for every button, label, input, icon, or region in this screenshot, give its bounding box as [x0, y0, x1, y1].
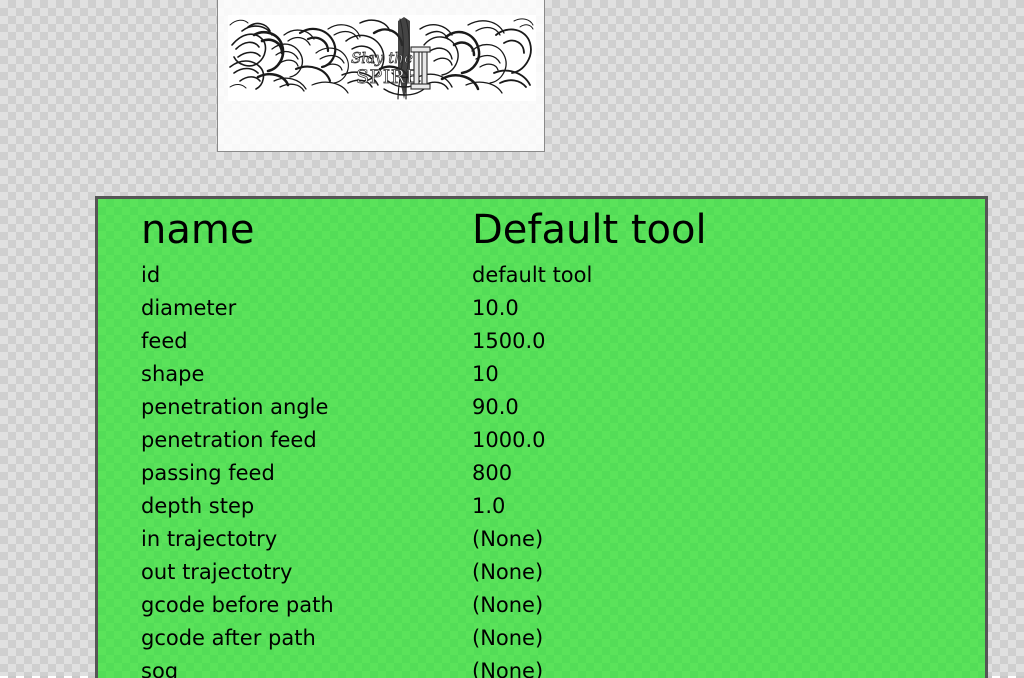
table-row[interactable]: sog (None) — [141, 655, 985, 678]
property-value: (None) — [472, 655, 985, 678]
banner-image-card[interactable]: Slay the SPIRE — [217, 0, 545, 152]
slay-the-spire-ii-artwork: Slay the SPIRE — [228, 15, 536, 101]
property-name: depth step — [141, 490, 472, 523]
property-name: passing feed — [141, 457, 472, 490]
table-row[interactable]: in trajectotry (None) — [141, 523, 985, 556]
column-header-value: Default tool — [472, 201, 985, 259]
property-name: out trajectotry — [141, 556, 472, 589]
property-name: penetration angle — [141, 391, 472, 424]
property-value: 1.0 — [472, 490, 985, 523]
tool-properties-panel: name Default tool id default tool diamet… — [95, 196, 988, 678]
table-row[interactable]: feed 1500.0 — [141, 325, 985, 358]
property-value: 90.0 — [472, 391, 985, 424]
table-row[interactable]: out trajectotry (None) — [141, 556, 985, 589]
table-row[interactable]: passing feed 800 — [141, 457, 985, 490]
tool-properties-table: name Default tool id default tool diamet… — [141, 201, 985, 678]
property-value: 10.0 — [472, 292, 985, 325]
property-value: (None) — [472, 556, 985, 589]
table-row[interactable]: gcode before path (None) — [141, 589, 985, 622]
property-value: (None) — [472, 622, 985, 655]
svg-text:SPIRE: SPIRE — [356, 66, 420, 88]
property-name: diameter — [141, 292, 472, 325]
table-row[interactable]: penetration angle 90.0 — [141, 391, 985, 424]
property-name: in trajectotry — [141, 523, 472, 556]
property-name: feed — [141, 325, 472, 358]
table-row[interactable]: shape 10 — [141, 358, 985, 391]
table-header-row: name Default tool — [141, 201, 985, 259]
property-value: default tool — [472, 259, 985, 292]
property-value: (None) — [472, 523, 985, 556]
table-row[interactable]: gcode after path (None) — [141, 622, 985, 655]
property-name: gcode before path — [141, 589, 472, 622]
property-name: sog — [141, 655, 472, 678]
property-name: shape — [141, 358, 472, 391]
column-header-name: name — [141, 201, 472, 259]
property-value: 1500.0 — [472, 325, 985, 358]
svg-text:Slay the: Slay the — [351, 49, 413, 67]
property-value: 800 — [472, 457, 985, 490]
property-value: (None) — [472, 589, 985, 622]
property-name: id — [141, 259, 472, 292]
property-value: 10 — [472, 358, 985, 391]
property-name: gcode after path — [141, 622, 472, 655]
table-row[interactable]: penetration feed 1000.0 — [141, 424, 985, 457]
property-value: 1000.0 — [472, 424, 985, 457]
table-row[interactable]: diameter 10.0 — [141, 292, 985, 325]
table-row[interactable]: depth step 1.0 — [141, 490, 985, 523]
property-name: penetration feed — [141, 424, 472, 457]
table-row[interactable]: id default tool — [141, 259, 985, 292]
